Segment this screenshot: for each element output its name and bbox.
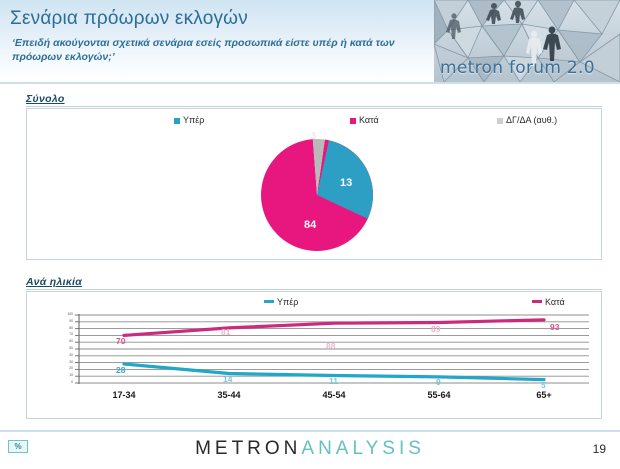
data-label-kata-17-34: 70 [116,336,125,346]
legend-item-kata-byage: Κατά [532,297,565,307]
legend-swatch-kata-line-icon [532,300,542,303]
page-title: Σενάρια πρόωρων εκλογών [10,8,248,30]
x-label-17-34: 17-34 [84,390,164,400]
pie-value-yper: 13 [340,177,352,189]
legend-item-dgda-total: ΔΓ/ΔΑ (αυθ.) [497,115,557,125]
data-label-kata-55-64: 89 [431,324,440,334]
y-tick-80: 80 [49,327,73,331]
logo-text: metron forum 2.0 [440,58,595,78]
legend-label-yper-byage: Υπέρ [277,297,298,307]
metron-forum-logo: metron forum 2.0 [434,0,620,82]
x-label-55-64: 55-64 [399,390,479,400]
data-label-kata-65plus: 93 [550,322,559,332]
data-label-yper-35-44: 14 [223,374,232,384]
legend-swatch-yper-icon [174,118,180,124]
data-label-yper-65plus: 5 [541,380,546,390]
slide-footer: % METRONANALYSIS 19 [0,430,620,469]
legend-item-kata-total: Κατά [350,115,379,125]
section-rule-total [26,106,602,107]
page-number: 19 [593,442,606,456]
legend-swatch-dgda-icon [497,118,503,124]
panel-total-chart: Υπέρ Κατά ΔΓ/ΔΑ (αυθ.) 13 84 3 [26,108,602,260]
slide-header: Σενάρια πρόωρων εκλογών ‘Επειδή ακούγοντ… [0,0,620,84]
line-chart-byage: 100 90 80 70 60 50 40 30 20 10 0 70 81 8… [49,314,589,386]
pie-value-kata: 84 [304,219,316,231]
legend-item-yper-total: Υπέρ [174,115,204,125]
brand-analysis: ANALYSIS [301,438,425,459]
page-subtitle: ‘Επειδή ακούγονται σχετικά σενάρια εσείς… [12,36,432,64]
pie-chart-total: 13 84 3 [227,133,407,257]
data-label-yper-45-54: 11 [329,376,338,386]
y-tick-10: 10 [49,374,73,378]
data-label-yper-55-64: 9 [436,377,441,387]
brand-logo: METRONANALYSIS [0,438,620,460]
legend-label-kata: Κατά [359,115,379,125]
pie-value-dgda: 3 [311,131,316,141]
x-label-65plus: 65+ [504,390,584,400]
legend-swatch-yper-line-icon [264,300,274,303]
section-rule-byage [26,289,602,290]
y-tick-0: 0 [49,381,73,385]
y-tick-90: 90 [49,320,73,324]
legend-label-yper: Υπέρ [183,115,204,125]
legend-swatch-kata-icon [350,118,356,124]
y-tick-30: 30 [49,361,73,365]
legend-label-dgda: ΔΓ/ΔΑ (αυθ.) [506,115,557,125]
section-label-byage: Ανά ηλικία [26,276,82,288]
y-tick-70: 70 [49,333,73,337]
data-label-yper-17-34: 28 [116,365,125,375]
y-tick-60: 60 [49,340,73,344]
legend-label-kata-byage: Κατά [545,297,565,307]
panel-byage-chart: Υπέρ Κατά [26,291,602,419]
y-tick-40: 40 [49,354,73,358]
x-label-35-44: 35-44 [189,390,269,400]
slide: Σενάρια πρόωρων εκλογών ‘Επειδή ακούγοντ… [0,0,620,469]
y-tick-20: 20 [49,367,73,371]
y-tick-100: 100 [49,313,73,317]
data-label-kata-35-44: 81 [221,327,230,337]
section-label-total: Σύνολο [26,93,65,105]
brand-metron: METRON [195,438,301,459]
pie-chart-svg [227,133,407,257]
data-label-kata-45-54: 88 [326,341,335,351]
x-label-45-54: 45-54 [294,390,374,400]
line-chart-svg [49,314,589,386]
legend-item-yper-byage: Υπέρ [264,297,298,307]
y-tick-50: 50 [49,347,73,351]
